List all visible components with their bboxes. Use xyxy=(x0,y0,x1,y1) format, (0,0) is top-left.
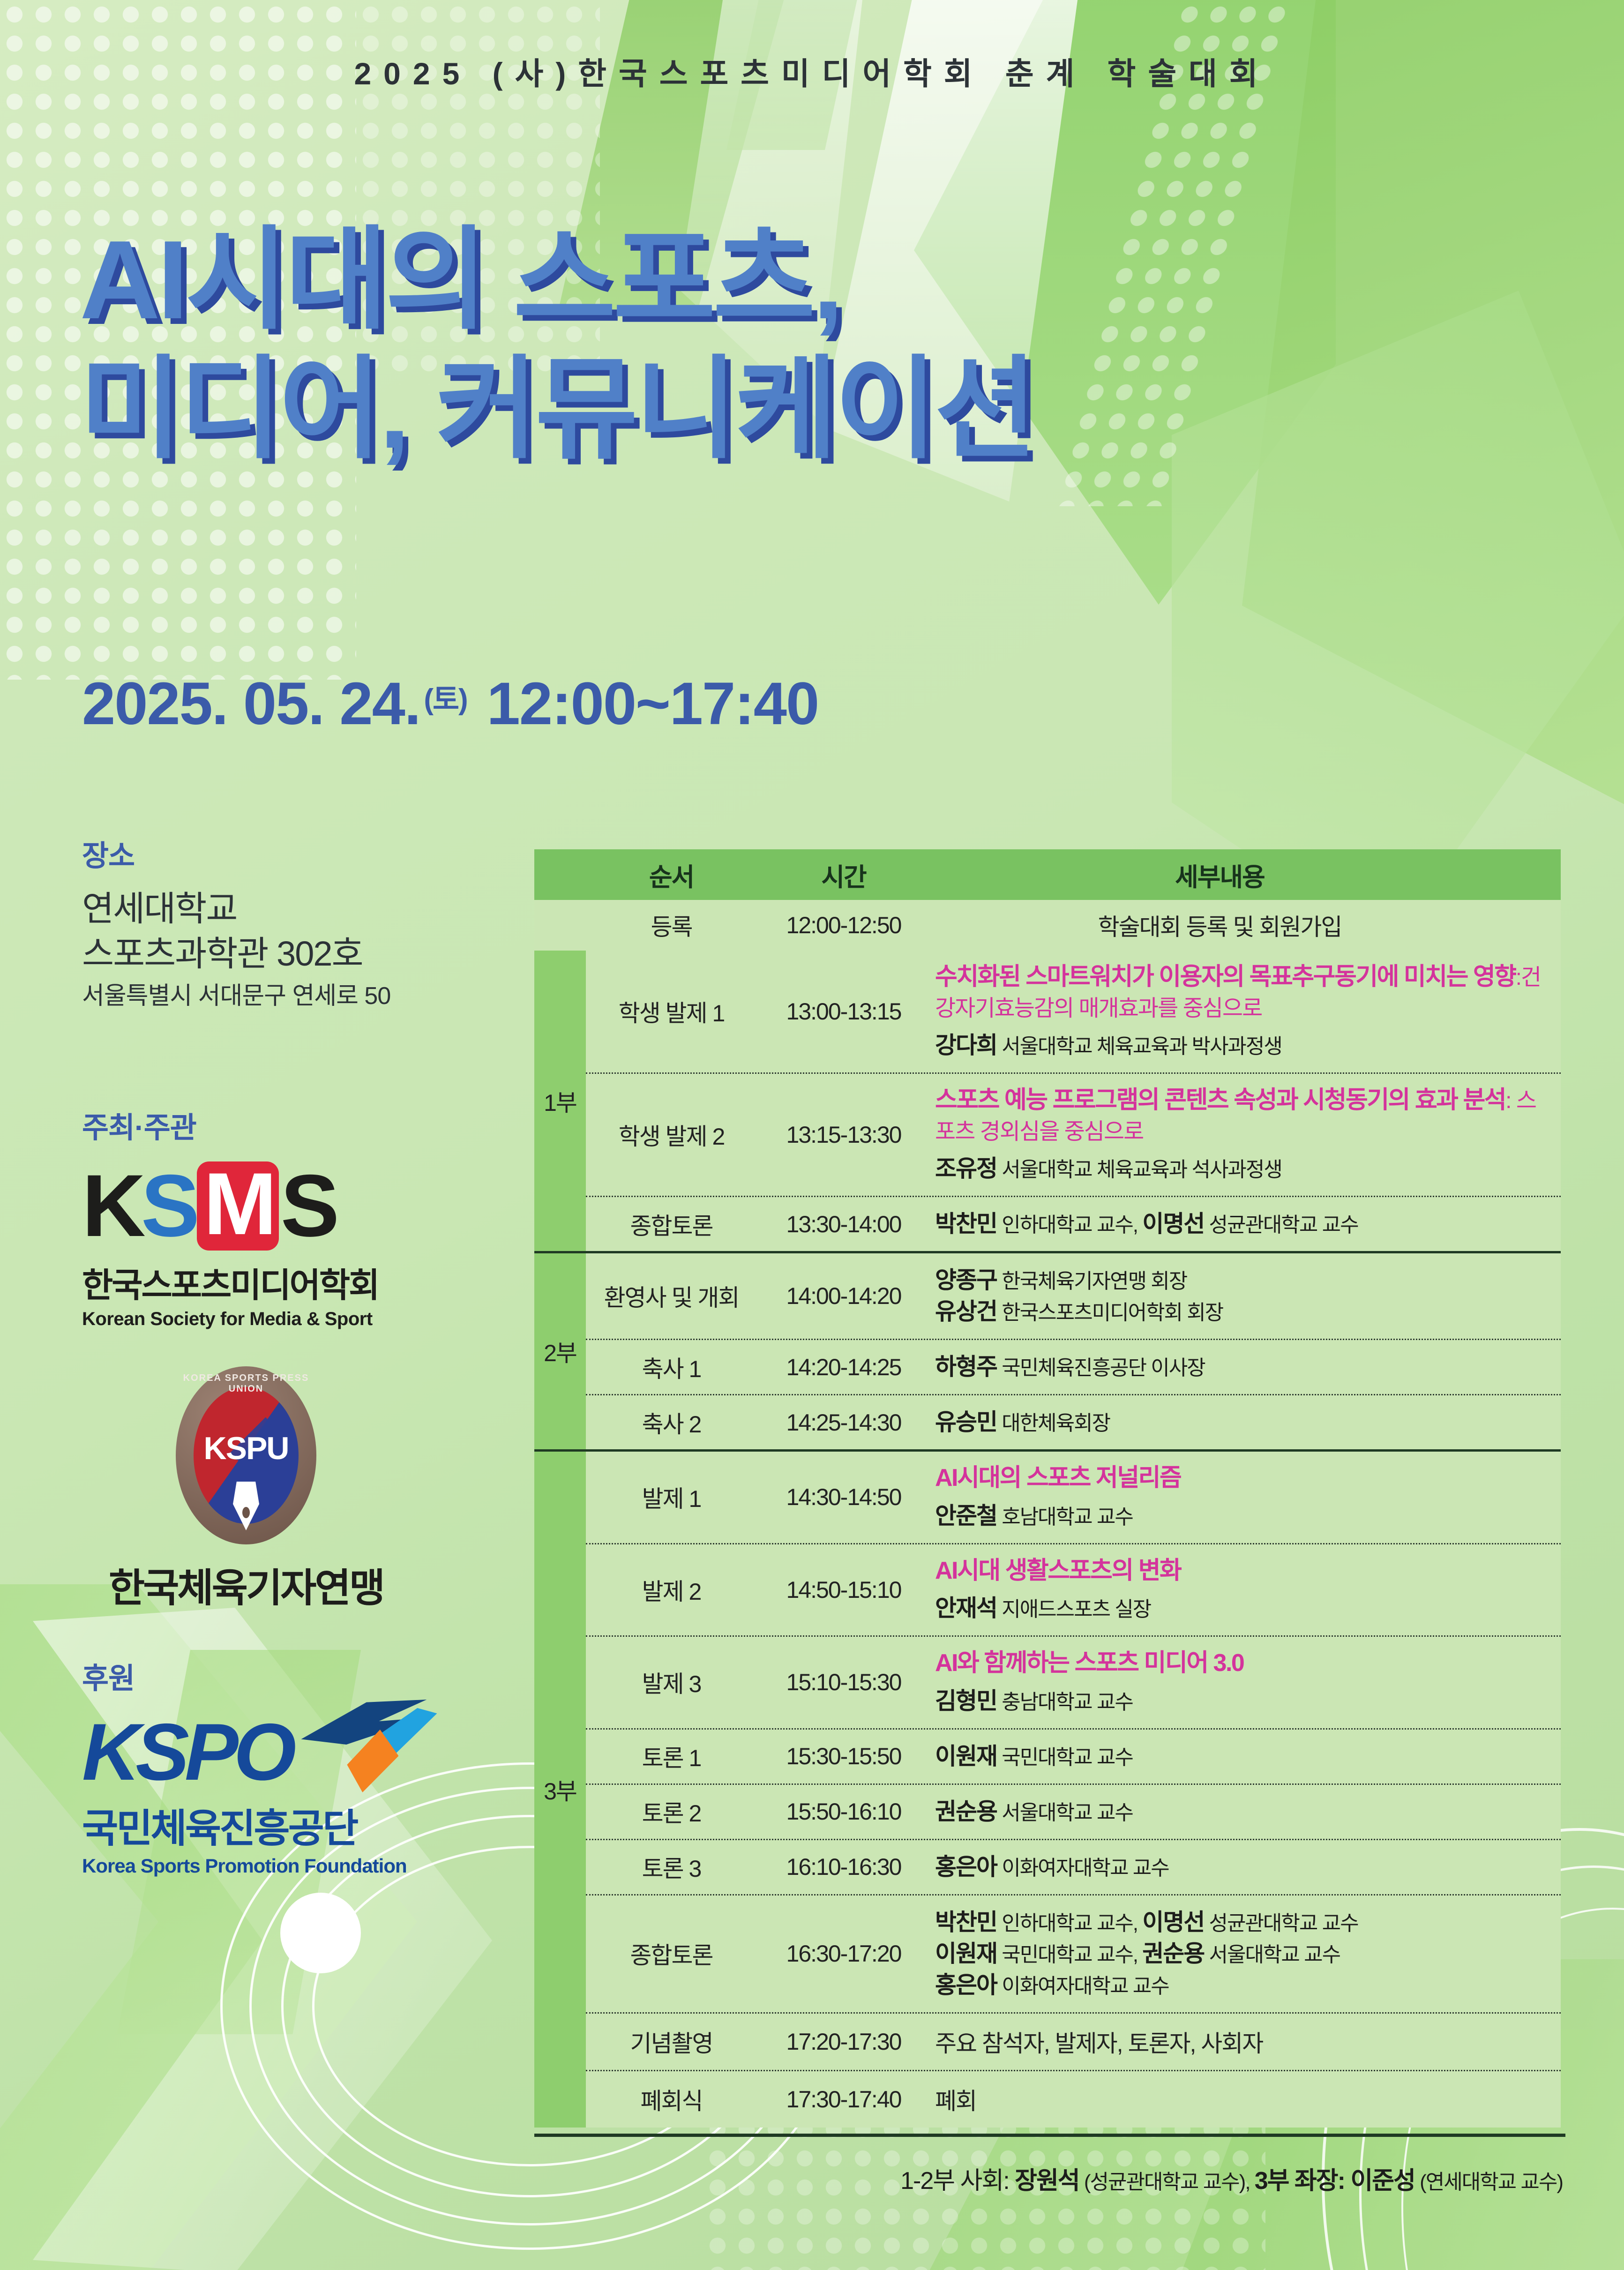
row-speaker-line: 양종구 한국체육기자연맹 회장 xyxy=(935,1265,1549,1296)
speaker-affiliation: 국민대학교 교수, xyxy=(997,1943,1142,1966)
row-speaker-line: 강다희 서울대학교 체육교육과 박사과정생 xyxy=(935,1030,1549,1061)
row-detail: 주요 참석자, 발제자, 토론자, 사회자 xyxy=(930,2014,1561,2070)
venue-line-2: 스포츠과학관 302호 xyxy=(82,931,532,976)
row-speaker-line: 권순용 서울대학교 교수 xyxy=(935,1796,1549,1828)
speaker-name: 유승민 xyxy=(935,1409,997,1435)
speaker-affiliation: 서울대학교 교수 xyxy=(997,1801,1133,1824)
schedule-table-body: 등록 12:00-12:50 학술대회 등록 및 회원가입 1부학생 발제 11… xyxy=(534,900,1561,2128)
row-detail: 박찬민 인하대학교 교수, 이명선 성균관대학교 교수이원재 국민대학교 교수,… xyxy=(930,1895,1561,2012)
ksms-logo: K S M S xyxy=(82,1162,532,1250)
row-speaker-line: 안준철 호남대학교 교수 xyxy=(935,1500,1549,1532)
schedule-part: 2부환영사 및 개회14:00-14:20양종구 한국체육기자연맹 회장유상건 … xyxy=(534,1251,1561,1449)
kspo-name-korean: 국민체육진흥공단 xyxy=(82,1797,532,1854)
speaker-name: 이명선 xyxy=(1142,1211,1204,1237)
row-order: 발제 1 xyxy=(586,1473,757,1521)
venue-block: 장소 연세대학교 스포츠과학관 302호 서울특별시 서대문구 연세로 50 xyxy=(82,832,532,1014)
kspu-arc-text: KOREA SPORTS PRESS UNION xyxy=(176,1373,316,1394)
row-speaker-line: 이원재 국민대학교 교수, 권순용 서울대학교 교수 xyxy=(935,1938,1549,1970)
registration-detail: 학술대회 등록 및 회원가입 xyxy=(930,908,1561,942)
row-detail: 폐회 xyxy=(930,2071,1561,2128)
part-label-3: 3부 xyxy=(534,1452,586,2128)
venue-line-3: 서울특별시 서대문구 연세로 50 xyxy=(82,979,532,1014)
speaker-name: 권순용 xyxy=(1142,1940,1204,1967)
ksms-letter-m: M xyxy=(203,1154,272,1253)
speaker-affiliation: 지애드스포츠 실장 xyxy=(997,1598,1151,1621)
host-block: 주최·주관 K S M S 한국스포츠미디어학회 Korean Society … xyxy=(82,1104,532,1613)
row-detail: 수치화된 스마트워치가 이용자의 목표추구동기에 미치는 영향:건강자기효능감의… xyxy=(930,951,1561,1072)
row-time: 14:20-14:25 xyxy=(757,1346,930,1388)
speaker-affiliation: 서울대학교 체육교육과 석사과정생 xyxy=(997,1158,1282,1181)
speaker-affiliation: 충남대학교 교수 xyxy=(997,1691,1133,1714)
row-time: 14:30-14:50 xyxy=(757,1476,930,1518)
row-detail-plain: 주요 참석자, 발제자, 토론자, 사회자 xyxy=(935,2025,1549,2059)
speaker-affiliation: 성균관대학교 교수 xyxy=(1204,1214,1358,1236)
speaker-affiliation: 대한체육회장 xyxy=(997,1412,1110,1435)
ksms-name-korean: 한국스포츠미디어학회 xyxy=(82,1258,532,1307)
table-row: 토론 316:10-16:30홍은아 이화여자대학교 교수 xyxy=(586,1839,1561,1894)
speaker-name: 김형민 xyxy=(935,1688,997,1714)
speaker-affiliation: 인하대학교 교수, xyxy=(997,1214,1142,1236)
row-speaker-line: 홍은아 이화여자대학교 교수 xyxy=(935,1851,1549,1883)
table-row: 축사 114:20-14:25하형주 국민체육진흥공단 이사장 xyxy=(586,1339,1561,1394)
row-detail: AI와 함께하는 스포츠 미디어 3.0김형민 충남대학교 교수 xyxy=(930,1637,1561,1728)
part-label-2: 2부 xyxy=(534,1253,586,1449)
table-row: 발제 214:50-15:10AI시대 생활스포츠의 변화안재석 지애드스포츠 … xyxy=(586,1543,1561,1636)
table-row: 폐회식17:30-17:40폐회 xyxy=(586,2070,1561,2128)
sponsor-label: 후원 xyxy=(82,1655,532,1697)
kspu-name-korean: 한국체육기자연맹 xyxy=(109,1557,383,1613)
speaker-affiliation: 한국스포츠미디어학회 회장 xyxy=(997,1301,1223,1324)
row-presentation-title: 스포츠 예능 프로그램의 콘텐츠 속성과 시청동기의 효과 분석: 스포츠 경외… xyxy=(935,1085,1549,1146)
row-order: 발제 2 xyxy=(586,1566,757,1614)
ksms-name-english: Korean Society for Media & Sport xyxy=(82,1309,532,1330)
speaker-name: 이명선 xyxy=(1142,1909,1204,1935)
row-presentation-subtitle: :건강자기효능감의 매개효과를 중심으로 xyxy=(935,965,1541,1021)
table-row: 발제 315:10-15:30AI와 함께하는 스포츠 미디어 3.0김형민 충… xyxy=(586,1635,1561,1728)
weekday-text: (토) xyxy=(424,675,467,718)
mc-and-chair-note: 1-2부 사회: 장원석 (성균관대학교 교수), 3부 좌장: 이준성 (연세… xyxy=(534,2161,1565,2196)
table-row: 종합토론13:30-14:00박찬민 인하대학교 교수, 이명선 성균관대학교 … xyxy=(586,1196,1561,1251)
speaker-name: 하형주 xyxy=(935,1354,997,1380)
table-row: 토론 115:30-15:50이원재 국민대학교 교수 xyxy=(586,1728,1561,1783)
row-detail: 권순용 서울대학교 교수 xyxy=(930,1785,1561,1839)
pen-nib-hole xyxy=(242,1507,250,1518)
row-presentation-subtitle: : 스포츠 경외심을 중심으로 xyxy=(935,1088,1536,1144)
row-order: 축사 1 xyxy=(586,1343,757,1392)
part-rows: 환영사 및 개회14:00-14:20양종구 한국체육기자연맹 회장유상건 한국… xyxy=(586,1253,1561,1449)
kspo-bird-icon xyxy=(296,1696,437,1790)
speaker-affiliation: 국민대학교 교수 xyxy=(997,1746,1133,1769)
host-label: 주최·주관 xyxy=(82,1104,532,1146)
table-row: 종합토론16:30-17:20박찬민 인하대학교 교수, 이명선 성균관대학교 … xyxy=(586,1894,1561,2012)
row-order: 종합토론 xyxy=(586,1200,757,1249)
date-time-line: 2025. 05. 24. (토) 12:00~17:40 xyxy=(82,669,818,738)
table-row: 토론 215:50-16:10권순용 서울대학교 교수 xyxy=(586,1783,1561,1839)
table-row: 환영사 및 개회14:00-14:20양종구 한국체육기자연맹 회장유상건 한국… xyxy=(586,1253,1561,1339)
mc-label: 1-2부 사회: xyxy=(900,2167,1015,2195)
row-detail: 하형주 국민체육진흥공단 이사장 xyxy=(930,1340,1561,1394)
row-presentation-title: AI와 함께하는 스포츠 미디어 3.0 xyxy=(935,1648,1549,1679)
row-detail: 양종구 한국체육기자연맹 회장유상건 한국스포츠미디어학회 회장 xyxy=(930,1253,1561,1339)
row-time: 16:30-17:20 xyxy=(757,1933,930,1975)
row-order: 학생 발제 1 xyxy=(586,987,757,1036)
row-order: 토론 2 xyxy=(586,1787,757,1836)
row-time: 14:25-14:30 xyxy=(757,1401,930,1444)
column-header-time: 시간 xyxy=(757,856,930,893)
row-detail: 유승민 대한체육회장 xyxy=(930,1395,1561,1449)
event-kicker: 2025 (사)한국스포츠미디어학회 춘계 학술대회 xyxy=(0,49,1624,94)
kspu-logo-group: KOREA SPORTS PRESS UNION KSPU 한국체육기자연맹 xyxy=(82,1366,410,1613)
row-time: 15:10-15:30 xyxy=(757,1661,930,1703)
speaker-affiliation: 이화여자대학교 교수 xyxy=(997,1975,1169,1998)
speaker-name: 홍은아 xyxy=(935,1854,997,1880)
row-speaker-line: 하형주 국민체육진흥공단 이사장 xyxy=(935,1351,1549,1383)
schedule-table-header: 순서 시간 세부내용 xyxy=(534,849,1561,900)
venue-label: 장소 xyxy=(82,832,532,874)
row-time: 13:15-13:30 xyxy=(757,1114,930,1156)
row-time: 15:50-16:10 xyxy=(757,1791,930,1833)
speaker-name: 박찬민 xyxy=(935,1211,997,1237)
speaker-name: 이원재 xyxy=(935,1940,997,1967)
row-speaker-line: 유상건 한국스포츠미디어학회 회장 xyxy=(935,1296,1549,1327)
speaker-name: 조유정 xyxy=(935,1155,997,1182)
row-detail: 홍은아 이화여자대학교 교수 xyxy=(930,1840,1561,1894)
row-speaker-line: 안재석 지애드스포츠 실장 xyxy=(935,1593,1549,1624)
speaker-name: 강다희 xyxy=(935,1032,997,1058)
table-row: 축사 214:25-14:30유승민 대한체육회장 xyxy=(586,1394,1561,1449)
row-detail: AI시대의 스포츠 저널리즘안준철 호남대학교 교수 xyxy=(930,1452,1561,1543)
row-time: 13:00-13:15 xyxy=(757,990,930,1033)
speaker-name: 홍은아 xyxy=(935,1972,997,1998)
row-speaker-line: 김형민 충남대학교 교수 xyxy=(935,1686,1549,1717)
row-detail: 박찬민 인하대학교 교수, 이명선 성균관대학교 교수 xyxy=(930,1197,1561,1251)
sponsor-block: 후원 KSPO 국민체육진흥공단 Korea Sports Promotion … xyxy=(82,1655,532,1877)
speaker-affiliation: 호남대학교 교수 xyxy=(997,1506,1133,1528)
schedule-part: 1부학생 발제 113:00-13:15수치화된 스마트워치가 이용자의 목표추… xyxy=(534,951,1561,1251)
speaker-affiliation: 성균관대학교 교수 xyxy=(1204,1912,1358,1935)
row-speaker-line: 조유정 서울대학교 체육교육과 석사과정생 xyxy=(935,1153,1549,1184)
ksms-letter-s1: S xyxy=(141,1166,195,1245)
time-range-text: 12:00~17:40 xyxy=(487,669,819,738)
kspo-logo: KSPO xyxy=(82,1712,532,1792)
row-speaker-line: 홍은아 이화여자대학교 교수 xyxy=(935,1970,1549,2001)
date-text: 2025. 05. 24. xyxy=(82,669,420,738)
row-time: 14:00-14:20 xyxy=(757,1275,930,1317)
speaker-name: 박찬민 xyxy=(935,1909,997,1935)
kspu-badge-icon: KOREA SPORTS PRESS UNION KSPU xyxy=(176,1366,316,1544)
row-speaker-line: 박찬민 인하대학교 교수, 이명선 성균관대학교 교수 xyxy=(935,1907,1549,1938)
mc-name: 장원석 xyxy=(1015,2167,1079,2195)
row-time: 16:10-16:30 xyxy=(757,1846,930,1888)
poster-main-title: AI시대의 스포츠, 미디어, 커뮤니케이션 xyxy=(80,216,1034,474)
speaker-affiliation: 인하대학교 교수, xyxy=(997,1912,1142,1935)
row-order: 축사 2 xyxy=(586,1398,757,1447)
speaker-affiliation: 국민체육진흥공단 이사장 xyxy=(997,1356,1205,1379)
speaker-name: 양종구 xyxy=(935,1267,997,1293)
row-detail: 스포츠 예능 프로그램의 콘텐츠 속성과 시청동기의 효과 분석: 스포츠 경외… xyxy=(930,1074,1561,1196)
row-order: 발제 3 xyxy=(586,1658,757,1707)
kspu-wordmark: KSPU xyxy=(176,1430,316,1467)
row-order: 학생 발제 2 xyxy=(586,1110,757,1159)
kspo-name-english: Korea Sports Promotion Foundation xyxy=(82,1855,532,1877)
speaker-name: 유상건 xyxy=(935,1298,997,1325)
kspo-wordmark: KSPO xyxy=(82,1712,292,1792)
schedule-part: 3부발제 114:30-14:50AI시대의 스포츠 저널리즘안준철 호남대학교… xyxy=(534,1449,1561,2128)
ksms-letter-s2: S xyxy=(281,1166,335,1245)
column-header-order: 순서 xyxy=(586,856,757,893)
registration-time: 12:00-12:50 xyxy=(757,904,930,946)
speaker-affiliation: 이화여자대학교 교수 xyxy=(997,1857,1169,1880)
schedule-footer-rule xyxy=(534,2134,1565,2137)
row-speaker-line: 이원재 국민대학교 교수 xyxy=(935,1741,1549,1772)
speaker-affiliation: 서울대학교 체육교육과 박사과정생 xyxy=(997,1035,1282,1058)
row-order: 기념촬영 xyxy=(586,2017,757,2066)
row-order: 환영사 및 개회 xyxy=(586,1272,757,1320)
row-order: 토론 3 xyxy=(586,1843,757,1891)
row-time: 14:50-15:10 xyxy=(757,1569,930,1611)
table-row: 발제 114:30-14:50AI시대의 스포츠 저널리즘안준철 호남대학교 교… xyxy=(586,1452,1561,1543)
row-presentation-title: 수치화된 스마트워치가 이용자의 목표추구동기에 미치는 영향:건강자기효능감의… xyxy=(935,962,1549,1023)
poster-canvas: 2025 (사)한국스포츠미디어학회 춘계 학술대회 AI시대의 스포츠, 미디… xyxy=(0,0,1624,2270)
speaker-affiliation: 한국체육기자연맹 회장 xyxy=(997,1270,1187,1293)
table-row: 기념촬영17:20-17:30주요 참석자, 발제자, 토론자, 사회자 xyxy=(586,2012,1561,2070)
ksms-m-box: M xyxy=(197,1161,279,1250)
speaker-name: 이원재 xyxy=(935,1743,997,1769)
registration-order: 등록 xyxy=(586,901,757,950)
part-label-1: 1부 xyxy=(534,951,586,1251)
row-presentation-title: AI시대 생활스포츠의 변화 xyxy=(935,1556,1549,1587)
row-presentation-title: AI시대의 스포츠 저널리즘 xyxy=(935,1463,1549,1494)
row-detail: AI시대 생활스포츠의 변화안재석 지애드스포츠 실장 xyxy=(930,1544,1561,1636)
table-row: 학생 발제 113:00-13:15수치화된 스마트워치가 이용자의 목표추구동… xyxy=(586,951,1561,1072)
chair-name: 이준성 xyxy=(1350,2167,1415,2195)
table-row-registration: 등록 12:00-12:50 학술대회 등록 및 회원가입 xyxy=(534,900,1561,951)
row-detail-plain: 폐회 xyxy=(935,2083,1549,2116)
ksms-letter-k: K xyxy=(82,1166,141,1245)
speaker-name: 안준철 xyxy=(935,1503,997,1529)
speaker-name: 권순용 xyxy=(935,1798,997,1825)
speaker-name: 안재석 xyxy=(935,1595,997,1621)
schedule-parts-container: 1부학생 발제 113:00-13:15수치화된 스마트워치가 이용자의 목표추… xyxy=(534,951,1561,2128)
row-time: 13:30-14:00 xyxy=(757,1203,930,1245)
part-rows: 학생 발제 113:00-13:15수치화된 스마트워치가 이용자의 목표추구동… xyxy=(586,951,1561,1251)
row-detail: 이원재 국민대학교 교수 xyxy=(930,1730,1561,1783)
row-order: 종합토론 xyxy=(586,1929,757,1978)
table-row: 학생 발제 213:15-13:30스포츠 예능 프로그램의 콘텐츠 속성과 시… xyxy=(586,1072,1561,1196)
column-header-detail: 세부내용 xyxy=(930,856,1561,893)
row-time: 15:30-15:50 xyxy=(757,1735,930,1777)
row-speaker-line: 유승민 대한체육회장 xyxy=(935,1407,1549,1438)
schedule-table: 순서 시간 세부내용 등록 12:00-12:50 학술대회 등록 및 회원가입… xyxy=(534,849,1561,2128)
row-speaker-line: 박찬민 인하대학교 교수, 이명선 성균관대학교 교수 xyxy=(935,1208,1549,1240)
part-rows: 발제 114:30-14:50AI시대의 스포츠 저널리즘안준철 호남대학교 교… xyxy=(586,1452,1561,2128)
row-order: 토론 1 xyxy=(586,1732,757,1781)
mc-affil: (성균관대학교 교수), xyxy=(1079,2171,1255,2194)
chair-affil: (연세대학교 교수) xyxy=(1415,2171,1563,2194)
row-time: 17:20-17:30 xyxy=(757,2021,930,2063)
chair-label: 3부 좌장: xyxy=(1255,2167,1351,2195)
speaker-affiliation: 서울대학교 교수 xyxy=(1204,1943,1340,1966)
venue-line-1: 연세대학교 xyxy=(82,886,532,931)
row-order: 폐회식 xyxy=(586,2075,757,2124)
row-time: 17:30-17:40 xyxy=(757,2078,930,2120)
